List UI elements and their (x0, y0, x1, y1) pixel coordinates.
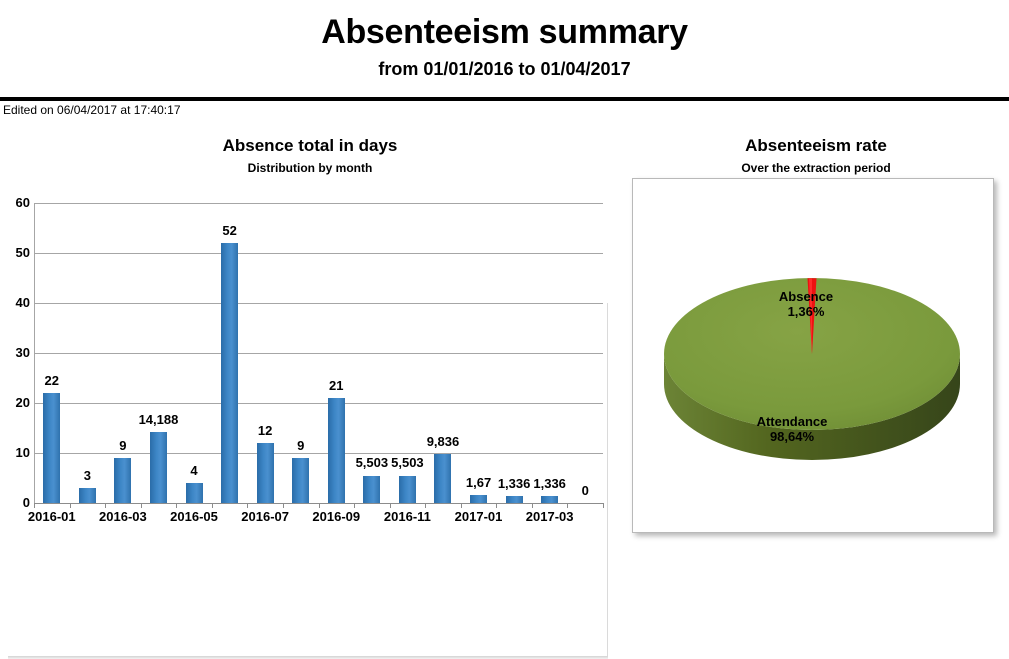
bar-chart-panel: Absence total in days Distribution by mo… (0, 125, 620, 540)
pie-label-attendance-name: Attendance (757, 414, 828, 429)
bar[interactable] (399, 476, 416, 504)
pie-chart-title: Absenteeism rate (630, 136, 1002, 156)
x-tick (496, 503, 497, 508)
bar[interactable] (363, 476, 380, 504)
x-tick (176, 503, 177, 508)
x-category-label: 2017-03 (510, 509, 590, 524)
bar[interactable] (257, 443, 274, 503)
x-tick (212, 503, 213, 508)
x-category-label: 2016-07 (225, 509, 305, 524)
pie-label-attendance-value: 98,64% (770, 429, 814, 444)
pie-label-absence-value: 1,36% (788, 304, 825, 319)
bar[interactable] (328, 398, 345, 503)
x-tick (425, 503, 426, 508)
pie-svg (630, 178, 994, 531)
x-tick (390, 503, 391, 508)
bar-value-label: 52 (185, 224, 275, 237)
bar[interactable] (186, 483, 203, 503)
y-tick-label: 0 (0, 496, 30, 509)
bar-plot-area: 223914,188452129215,5035,5039,8361,671,3… (34, 203, 603, 503)
bar-value-label: 9,836 (398, 435, 488, 448)
x-category-label: 2017-01 (439, 509, 519, 524)
bar[interactable] (470, 495, 487, 503)
x-tick (70, 503, 71, 508)
bar[interactable] (541, 496, 558, 503)
x-tick (247, 503, 248, 508)
header-divider (0, 97, 1009, 101)
bar-value-label: 22 (7, 374, 97, 387)
bar[interactable] (292, 458, 309, 503)
pie-label-attendance: Attendance 98,64% (692, 415, 892, 445)
bar[interactable] (221, 243, 238, 503)
x-tick (319, 503, 320, 508)
bar-plot: 223914,188452129215,5035,5039,8361,671,3… (34, 203, 603, 624)
y-tick-label: 20 (0, 396, 30, 409)
gridline-30 (34, 353, 603, 354)
pie-chart-panel: Absenteeism rate Over the extraction per… (630, 125, 1002, 537)
bar-value-label: 14,188 (113, 413, 203, 426)
page-title: Absenteeism summary (0, 13, 1009, 52)
x-tick (461, 503, 462, 508)
x-tick (603, 503, 604, 508)
pie-label-absence-name: Absence (779, 289, 833, 304)
page-subtitle: from 01/01/2016 to 01/04/2017 (0, 59, 1009, 80)
pie-chart-graphic: Absence 1,36% Attendance 98,64% (630, 178, 994, 531)
y-tick-label: 10 (0, 446, 30, 459)
gridline-40 (34, 303, 603, 304)
x-tick (354, 503, 355, 508)
pie-label-absence: Absence 1,36% (706, 290, 906, 320)
bar-value-label: 12 (220, 424, 310, 437)
y-tick-label: 40 (0, 296, 30, 309)
gridline-50 (34, 253, 603, 254)
bar[interactable] (79, 488, 96, 503)
bar-panel-right-edge (607, 303, 608, 658)
x-category-label: 2016-05 (154, 509, 234, 524)
gridline-10 (34, 453, 603, 454)
bar-chart-subtitle: Distribution by month (0, 161, 620, 175)
x-category-label: 2016-09 (296, 509, 376, 524)
y-tick-label: 30 (0, 346, 30, 359)
x-category-label: 2016-03 (83, 509, 163, 524)
gridline-20 (34, 403, 603, 404)
x-tick (283, 503, 284, 508)
report-header: Absenteeism summary from 01/01/2016 to 0… (0, 0, 1009, 99)
x-tick (532, 503, 533, 508)
y-tick-label: 50 (0, 246, 30, 259)
bar-chart-title: Absence total in days (0, 136, 620, 156)
pie-chart-subtitle: Over the extraction period (630, 161, 1002, 175)
gridline-60 (34, 203, 603, 204)
bar[interactable] (114, 458, 131, 503)
x-category-label: 2016-01 (12, 509, 92, 524)
bar-value-label: 21 (291, 379, 381, 392)
edited-timestamp: Edited on 06/04/2017 at 17:40:17 (3, 103, 181, 117)
bar-value-label: 0 (540, 484, 630, 497)
x-tick (567, 503, 568, 508)
x-tick (34, 503, 35, 508)
bar[interactable] (43, 393, 60, 503)
x-tick (141, 503, 142, 508)
x-category-label: 2016-11 (367, 509, 447, 524)
y-tick-label: 60 (0, 196, 30, 209)
bar[interactable] (506, 496, 523, 503)
x-tick (105, 503, 106, 508)
